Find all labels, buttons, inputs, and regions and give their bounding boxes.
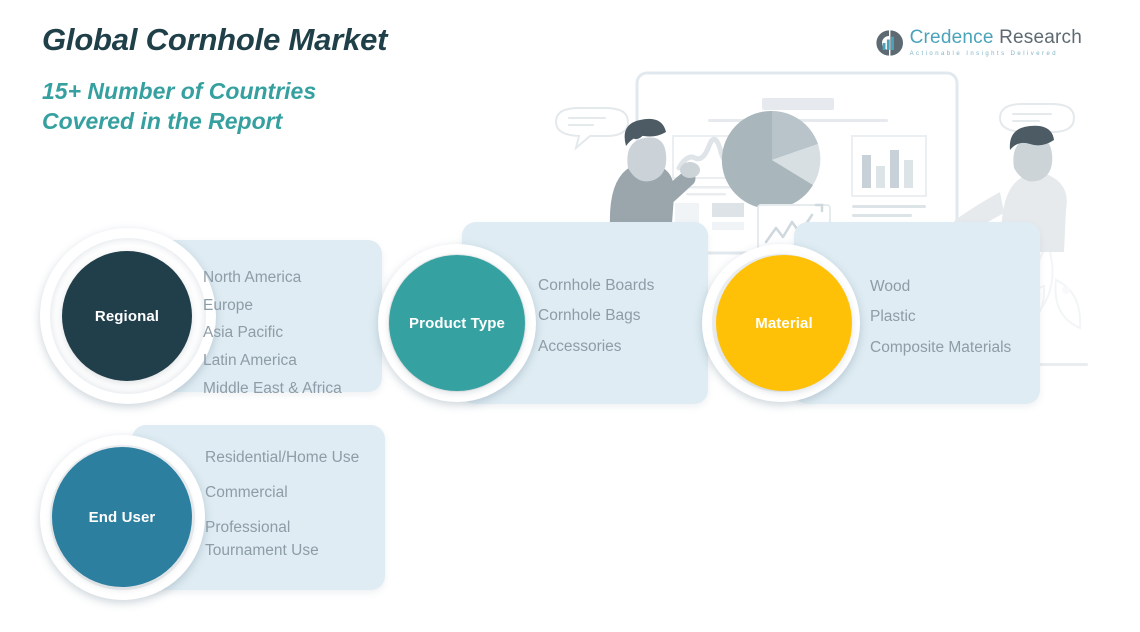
list-item: Composite Materials	[870, 333, 1011, 363]
logo-tagline: Actionable Insights Delivered	[910, 51, 1082, 57]
list-item: Accessories	[538, 332, 654, 362]
list-item: North America	[203, 264, 342, 292]
header: Global Cornhole Market 15+ Number of Cou…	[42, 22, 387, 137]
list-item: Plastic	[870, 302, 1011, 332]
building-chart-logo-icon	[875, 29, 903, 57]
segment-items-product-type: Cornhole Boards Cornhole Bags Accessorie…	[538, 271, 654, 362]
logo-name-part1: Credence	[910, 27, 994, 48]
segment-card-product-type[interactable]: Product Type Cornhole Boards Cornhole Ba…	[378, 222, 708, 404]
segment-items-end-user: Residential/Home Use Commercial Professi…	[205, 447, 365, 575]
segment-card-material[interactable]: Material Wood Plastic Composite Material…	[702, 222, 1040, 404]
segment-items-material: Wood Plastic Composite Materials	[870, 272, 1011, 363]
segment-card-end-user[interactable]: End User Residential/Home Use Commercial…	[40, 425, 385, 590]
segment-bubble-end-user[interactable]: End User	[52, 447, 192, 587]
list-item: Asia Pacific	[203, 319, 342, 347]
logo-name: Credence Research	[910, 28, 1082, 47]
segment-bubble-material[interactable]: Material	[716, 255, 852, 391]
logo-name-part2: Research	[999, 27, 1082, 48]
list-item: Professional Tournament Use	[205, 517, 365, 563]
list-item: Middle East & Africa	[203, 375, 342, 403]
speech-bubble-left-icon	[556, 108, 628, 148]
list-item: Residential/Home Use	[205, 447, 365, 470]
segment-items-regional: North America Europe Asia Pacific Latin …	[203, 264, 342, 403]
list-item: Latin America	[203, 347, 342, 375]
segment-card-regional[interactable]: Regional North America Europe Asia Pacif…	[40, 228, 382, 404]
list-item: Cornhole Bags	[538, 301, 654, 331]
list-item: Cornhole Boards	[538, 271, 654, 301]
bar-chart-icon	[852, 136, 926, 196]
pie-chart-icon	[722, 111, 821, 209]
line-chart-icon	[673, 136, 747, 178]
page-subtitle: 15+ Number of Countries Covered in the R…	[42, 76, 387, 137]
segment-bubble-regional[interactable]: Regional	[62, 251, 192, 381]
credence-research-logo: Credence Research Actionable Insights De…	[875, 28, 1082, 57]
speech-bubble-right-icon	[1000, 104, 1074, 144]
page-title: Global Cornhole Market	[42, 22, 387, 58]
list-item: Wood	[870, 272, 1011, 302]
list-item: Europe	[203, 292, 342, 320]
list-item: Commercial	[205, 482, 365, 505]
segment-bubble-product-type[interactable]: Product Type	[389, 255, 525, 391]
